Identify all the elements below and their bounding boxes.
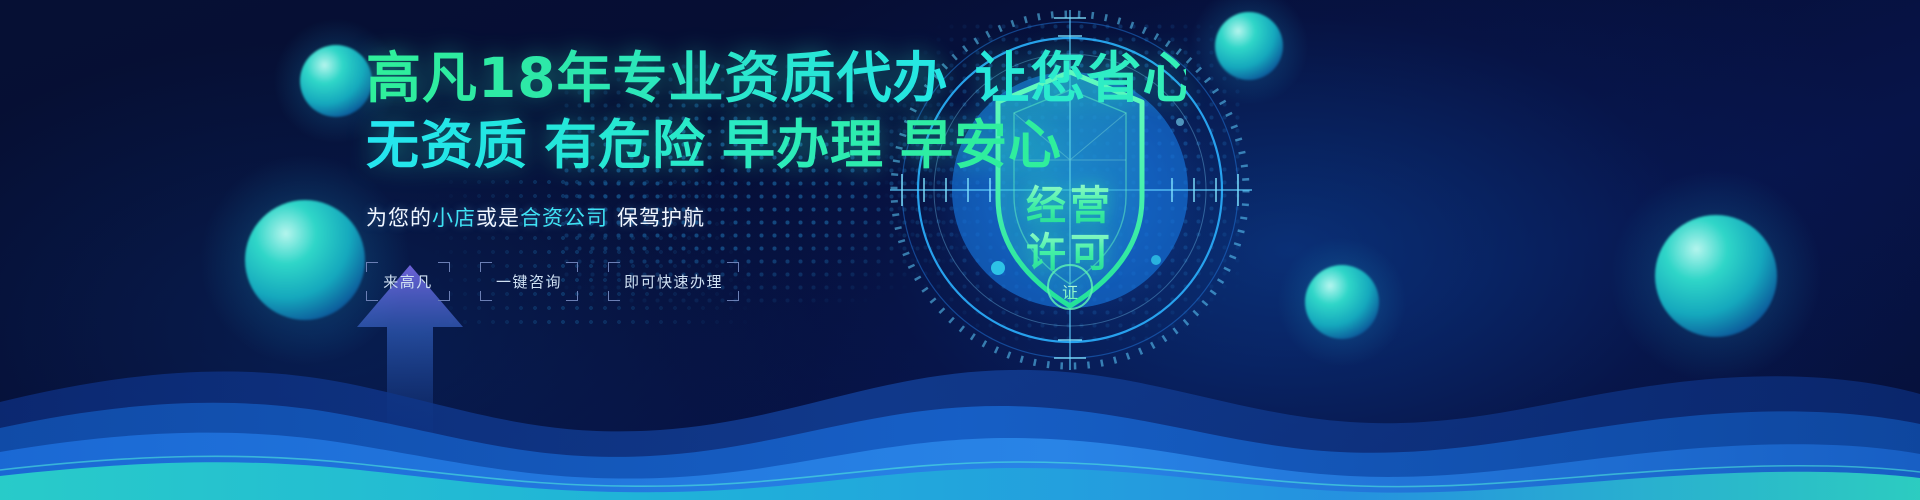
glow-sphere-decoration (300, 45, 372, 117)
tag-chip-3[interactable]: 即可快速办理 (608, 262, 739, 301)
headline-line-1-part-b: 让您省心更省力 (975, 46, 1367, 110)
tag-list: 来高凡 一键咨询 即可快速办理 (366, 262, 1186, 301)
subtitle-highlight-1: 小店 (432, 207, 476, 230)
subtitle-suffix: 保驾护航 (617, 207, 705, 230)
subtitle-middle: 或是 (476, 207, 520, 230)
subtitle-prefix: 为您的 (366, 207, 432, 230)
headline-line-2-seg-3: 早安心 (900, 115, 1062, 176)
tag-chip-1[interactable]: 来高凡 (366, 262, 450, 301)
headline-block: 高凡18年专业资质代办让您省心更省力 无资质有危险早办理早安心 为您的小店或是合… (366, 48, 1186, 301)
wave-decoration (0, 310, 1920, 500)
headline-line-2-seg-1: 有危险 (544, 115, 706, 176)
subtitle: 为您的小店或是合资公司保驾护航 (366, 202, 1186, 232)
headline-line-2: 无资质有危险早办理早安心 (366, 116, 1186, 176)
promo-banner: 经营 许可 证 高凡18年专业资质代办让您省心更省力 无资质有危险早办理早安心 … (0, 0, 1920, 500)
headline-line-2-seg-0: 无资质 (366, 115, 528, 176)
subtitle-highlight-2: 合资公司 (520, 207, 608, 230)
headline-line-1-part-a: 高凡18年专业资质代办 (366, 46, 949, 110)
headline-line-1: 高凡18年专业资质代办让您省心更省力 (366, 48, 1186, 108)
tag-chip-1-label: 来高凡 (383, 274, 433, 291)
tag-chip-3-label: 即可快速办理 (624, 274, 723, 291)
tag-chip-2[interactable]: 一键咨询 (480, 262, 578, 301)
headline-line-2-seg-2: 早办理 (722, 115, 884, 176)
tag-chip-2-label: 一键咨询 (496, 274, 562, 291)
